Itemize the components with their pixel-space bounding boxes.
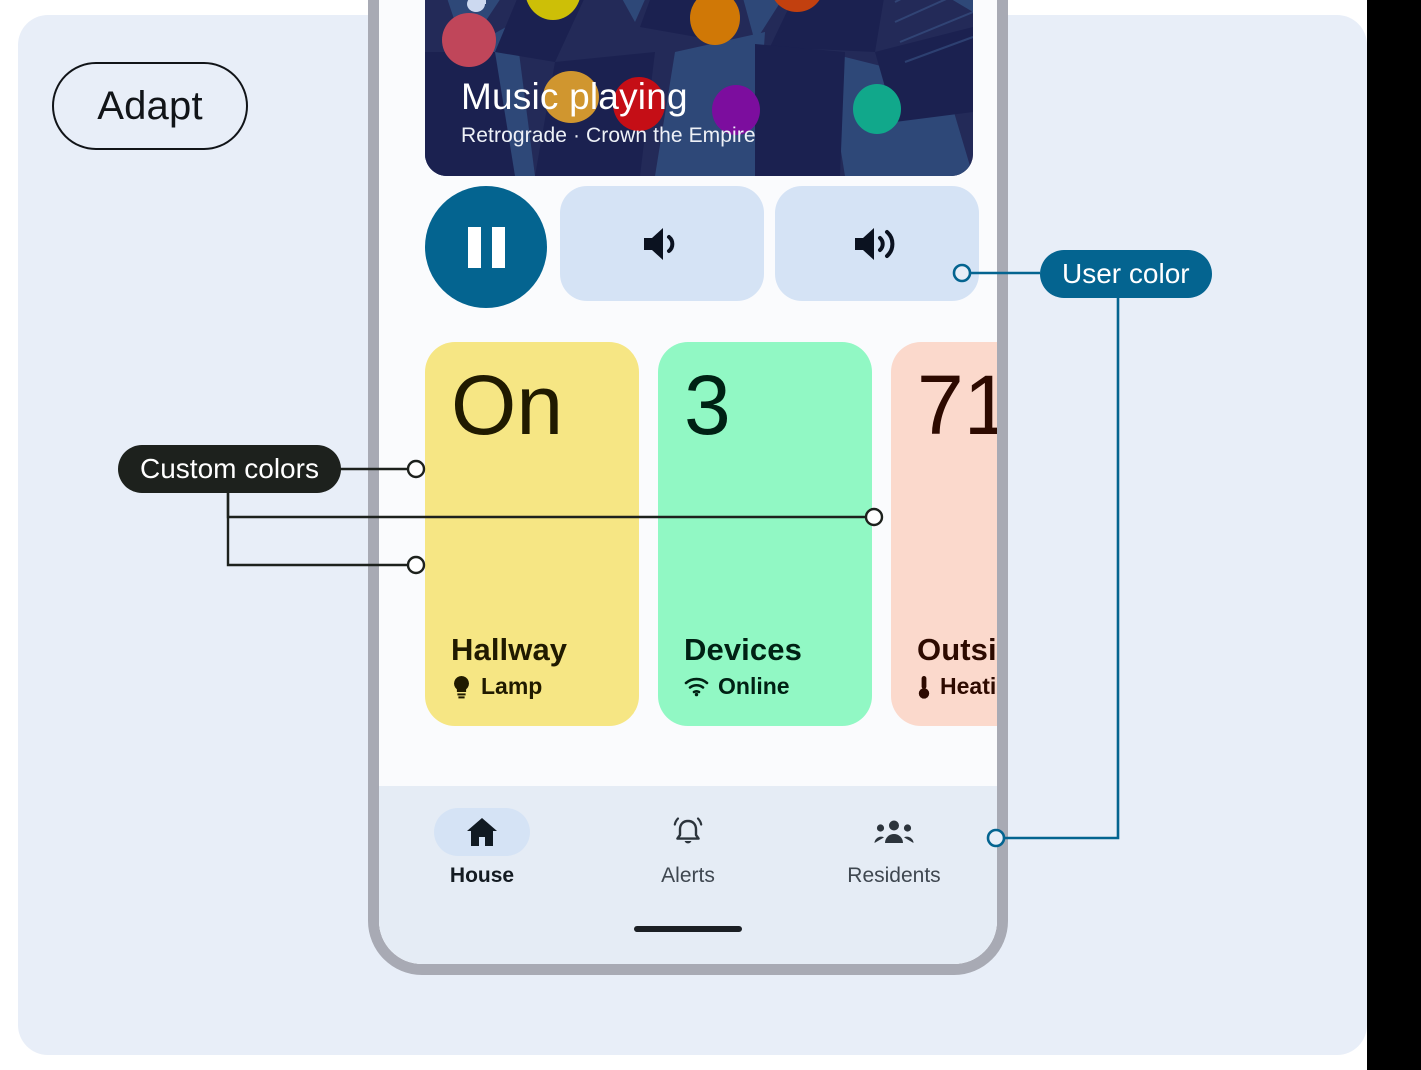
tile-status-row: Online bbox=[684, 673, 846, 700]
annotation-custom-colors[interactable]: Custom colors bbox=[118, 445, 341, 493]
volume-down-button[interactable] bbox=[560, 186, 764, 301]
tile-name: Outside bbox=[917, 632, 997, 668]
bell-icon bbox=[671, 816, 705, 848]
tile-outside[interactable]: 71 Outside Heating bbox=[891, 342, 997, 726]
tile-footer: Outside Heating bbox=[917, 632, 997, 700]
wifi-icon bbox=[684, 677, 709, 697]
nav-pill-alerts bbox=[640, 808, 736, 856]
tile-name: Devices bbox=[684, 632, 846, 668]
media-subtitle: Retrograde · Crown the Empire bbox=[461, 124, 756, 148]
adapt-chip[interactable]: Adapt bbox=[52, 62, 248, 150]
tile-value: 71 bbox=[917, 364, 997, 446]
nav-item-house[interactable]: House bbox=[379, 808, 585, 888]
lightbulb-icon bbox=[451, 675, 472, 699]
tile-status-label: Lamp bbox=[481, 673, 542, 700]
tile-hallway[interactable]: On Hallway Lamp bbox=[425, 342, 639, 726]
annotation-user-color[interactable]: User color bbox=[1040, 250, 1212, 298]
tile-status-label: Heating bbox=[940, 673, 997, 700]
play-pause-button[interactable] bbox=[425, 186, 547, 308]
media-text-block: Music playing Retrograde · Crown the Emp… bbox=[461, 78, 756, 148]
nav-item-residents[interactable]: Residents bbox=[791, 808, 997, 888]
tile-footer: Devices Online bbox=[684, 632, 846, 700]
nav-label-alerts: Alerts bbox=[661, 864, 715, 888]
phone-screen: 3 speakers Music playing Retrograde · Cr… bbox=[379, 0, 997, 964]
nav-label-house: House bbox=[450, 864, 514, 888]
tile-footer: Hallway Lamp bbox=[451, 632, 613, 700]
tile-status-row: Heating bbox=[917, 673, 997, 700]
people-icon bbox=[874, 819, 914, 845]
adapt-chip-label: Adapt bbox=[97, 84, 203, 129]
phone-frame: 3 speakers Music playing Retrograde · Cr… bbox=[368, 0, 1008, 975]
volume-up-icon bbox=[851, 224, 903, 264]
nav-label-residents: Residents bbox=[847, 864, 940, 888]
annotation-custom-colors-label: Custom colors bbox=[140, 453, 319, 485]
screenshot-root: Adapt bbox=[0, 0, 1421, 1070]
home-icon bbox=[466, 817, 498, 847]
nav-pill-residents bbox=[846, 808, 942, 856]
tile-value: On bbox=[451, 364, 613, 446]
nav-pill-house bbox=[434, 808, 530, 856]
pause-icon bbox=[468, 227, 505, 268]
annotation-user-color-label: User color bbox=[1062, 258, 1190, 290]
tile-value: 3 bbox=[684, 364, 846, 446]
volume-down-icon bbox=[639, 224, 685, 264]
right-black-band bbox=[1367, 0, 1421, 1070]
media-title: Music playing bbox=[461, 78, 756, 117]
bottom-navigation: House Alerts bbox=[379, 786, 997, 964]
media-controls bbox=[425, 186, 973, 308]
tile-status-row: Lamp bbox=[451, 673, 613, 700]
music-note-icon bbox=[467, 0, 503, 14]
thermometer-icon bbox=[917, 675, 931, 699]
tile-status-label: Online bbox=[718, 673, 790, 700]
media-card[interactable]: 3 speakers Music playing Retrograde · Cr… bbox=[425, 0, 973, 176]
tile-name: Hallway bbox=[451, 632, 613, 668]
volume-up-button[interactable] bbox=[775, 186, 979, 301]
home-indicator bbox=[634, 926, 742, 932]
nav-item-alerts[interactable]: Alerts bbox=[585, 808, 791, 888]
tile-devices[interactable]: 3 Devices Online bbox=[658, 342, 872, 726]
